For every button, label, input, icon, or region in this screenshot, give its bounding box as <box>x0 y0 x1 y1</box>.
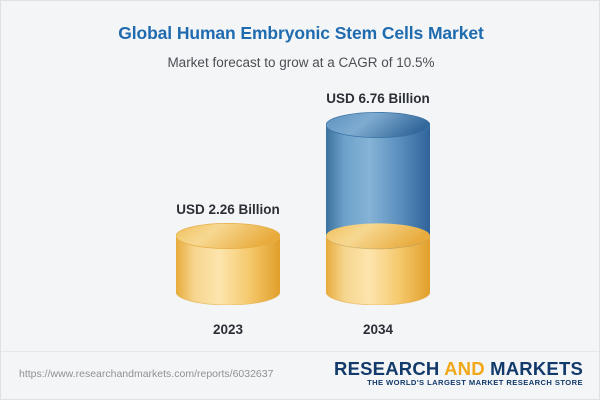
chart-subtitle: Market forecast to grow at a CAGR of 10.… <box>1 44 600 70</box>
brand-logo: RESEARCH AND MARKETS THE WORLD'S LARGEST… <box>334 359 583 389</box>
brand-word-and: AND <box>444 358 485 379</box>
brand-wordmark: RESEARCH AND MARKETS <box>334 359 583 378</box>
bar-value-label-2034: USD 6.76 Billion <box>303 91 453 106</box>
chart-title: Global Human Embryonic Stem Cells Market <box>1 1 600 44</box>
category-label-2023: 2023 <box>153 322 303 337</box>
brand-word-research: RESEARCH <box>334 358 444 379</box>
source-url-link[interactable]: https://www.researchandmarkets.com/repor… <box>19 368 273 380</box>
chart-card: Global Human Embryonic Stem Cells Market… <box>0 0 600 400</box>
category-label-2034: 2034 <box>303 322 453 337</box>
brand-tagline: THE WORLD'S LARGEST MARKET RESEARCH STOR… <box>334 378 583 389</box>
chart-header: Global Human Embryonic Stem Cells Market… <box>1 1 600 70</box>
brand-word-markets: MARKETS <box>485 358 583 379</box>
cylinder-2023 <box>176 223 280 305</box>
plot-area: USD 2.26 Billion <box>1 86 600 341</box>
chart-footer: https://www.researchandmarkets.com/repor… <box>1 351 600 399</box>
bar-value-label-2023: USD 2.26 Billion <box>153 202 303 217</box>
cylinder-2034 <box>326 112 430 305</box>
